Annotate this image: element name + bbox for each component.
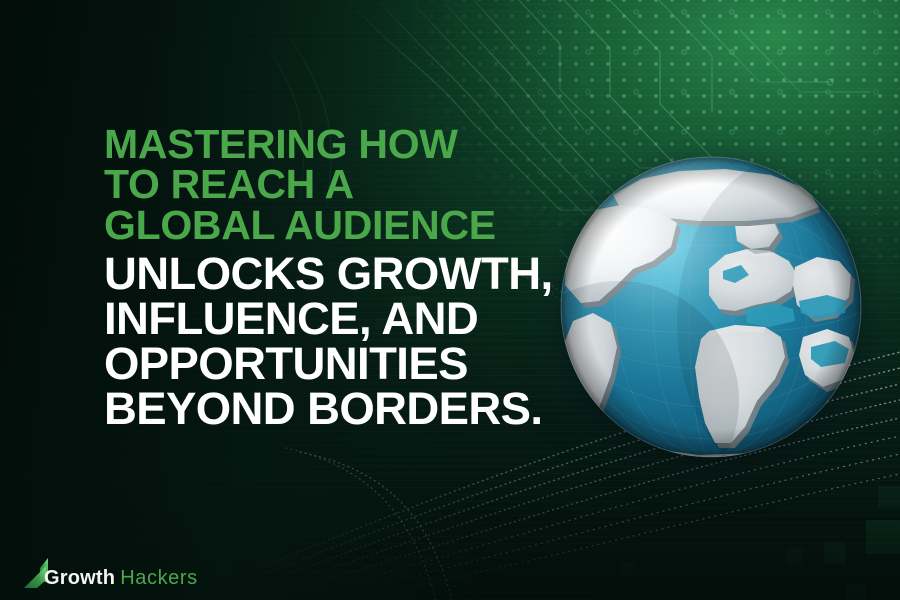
- promo-banner: MASTERING HOW TO REACH A GLOBAL AUDIENCE…: [0, 0, 900, 600]
- headline-white-line-3: OPPORTUNITIES: [104, 342, 564, 387]
- globe-graphic: [559, 151, 863, 463]
- headline-green-line-2: TO REACH A: [104, 164, 564, 204]
- headline-green-block: MASTERING HOW TO REACH A GLOBAL AUDIENCE: [104, 124, 564, 245]
- brand-logo[interactable]: GrowthHackers: [24, 550, 205, 590]
- headline-green-line-3: GLOBAL AUDIENCE: [104, 205, 564, 245]
- globe-icon: [559, 151, 863, 463]
- headline-green-line-1: MASTERING HOW: [104, 124, 564, 164]
- headline-white-line-1: UNLOCKS GROWTH,: [104, 252, 564, 297]
- headline-white-block: UNLOCKS GROWTH, INFLUENCE, AND OPPORTUNI…: [104, 252, 564, 431]
- headline-white-line-2: INFLUENCE, AND: [104, 297, 564, 342]
- logo-word-hackers: Hackers: [120, 567, 198, 589]
- headline-block: MASTERING HOW TO REACH A GLOBAL AUDIENCE…: [104, 124, 564, 431]
- headline-white-line-4: BEYOND BORDERS.: [104, 387, 564, 432]
- logo-word-growth: Growth: [44, 567, 115, 589]
- logo-wordmark: GrowthHackers: [44, 568, 198, 588]
